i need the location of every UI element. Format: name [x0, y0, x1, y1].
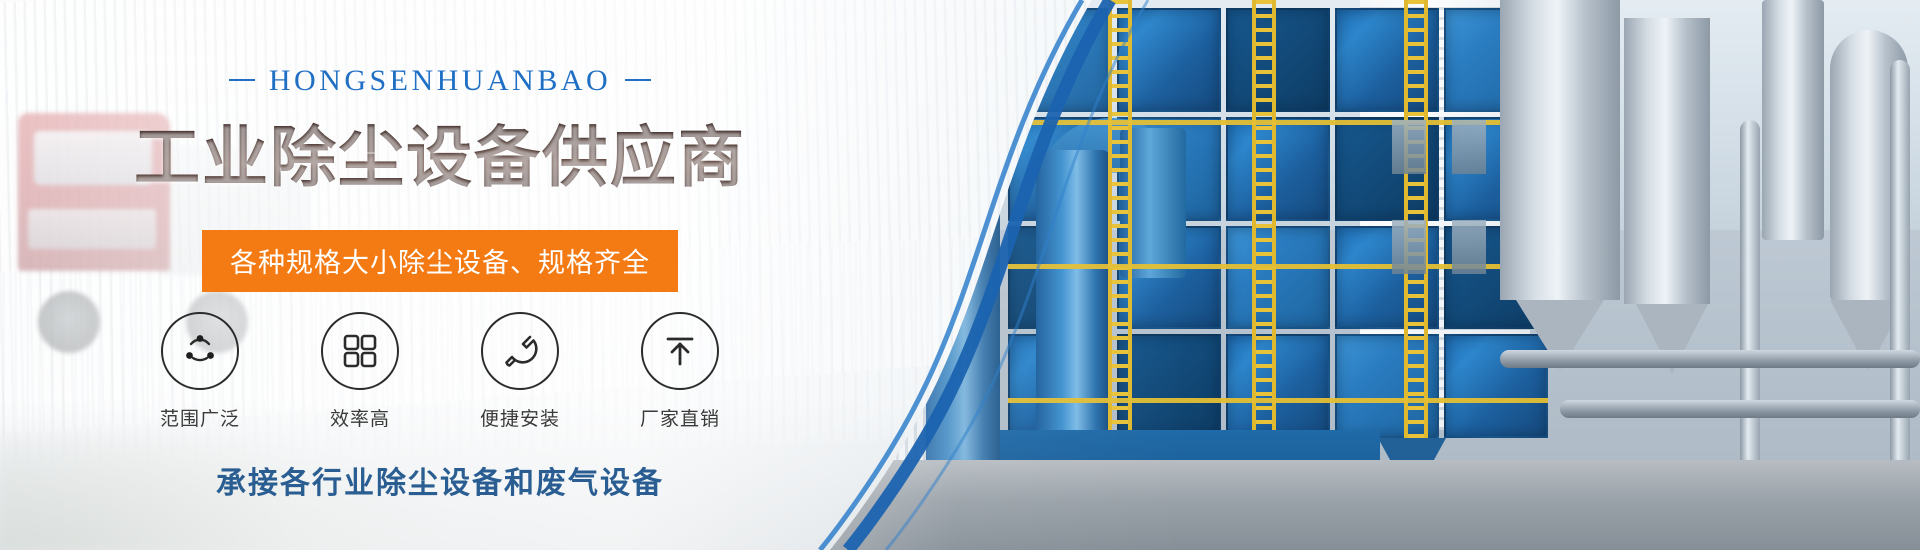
wrench-icon	[499, 330, 541, 372]
banner-title: 工业除尘设备供应商	[0, 104, 880, 200]
banner-content: HONGSENHUANBAO 工业除尘设备供应商 各种规格大小除尘设备、规格齐全	[0, 0, 980, 550]
feature-label: 厂家直销	[630, 404, 730, 431]
feature-icon-circle	[481, 312, 559, 390]
banner-footline: 承接各行业除尘设备和废气设备	[0, 458, 880, 502]
dash-left	[229, 79, 255, 81]
feature-icon-circle	[321, 312, 399, 390]
hero-banner: HONGSENHUANBAO 工业除尘设备供应商 各种规格大小除尘设备、规格齐全	[0, 0, 1920, 550]
share-network-icon	[179, 330, 221, 372]
tagline-badge: 各种规格大小除尘设备、规格齐全	[202, 230, 678, 292]
feature-item[interactable]: 厂家直销	[630, 312, 730, 431]
brand-pinyin-text: HONGSENHUANBAO	[269, 64, 611, 97]
feature-label: 便捷安装	[470, 404, 570, 431]
grid-squares-icon	[340, 331, 380, 371]
feature-label: 范围广泛	[150, 404, 250, 431]
brand-pinyin: HONGSENHUANBAO	[0, 64, 880, 98]
upload-arrow-icon	[660, 331, 700, 371]
feature-item[interactable]: 范围广泛	[150, 312, 250, 431]
feature-icon-circle	[641, 312, 719, 390]
feature-label: 效率高	[310, 404, 410, 431]
feature-item[interactable]: 便捷安装	[470, 312, 570, 431]
feature-icon-circle	[161, 312, 239, 390]
feature-list: 范围广泛 效率高	[0, 312, 880, 431]
dash-right	[625, 79, 651, 81]
feature-item[interactable]: 效率高	[310, 312, 410, 431]
tagline-wrapper: 各种规格大小除尘设备、规格齐全	[0, 230, 880, 292]
